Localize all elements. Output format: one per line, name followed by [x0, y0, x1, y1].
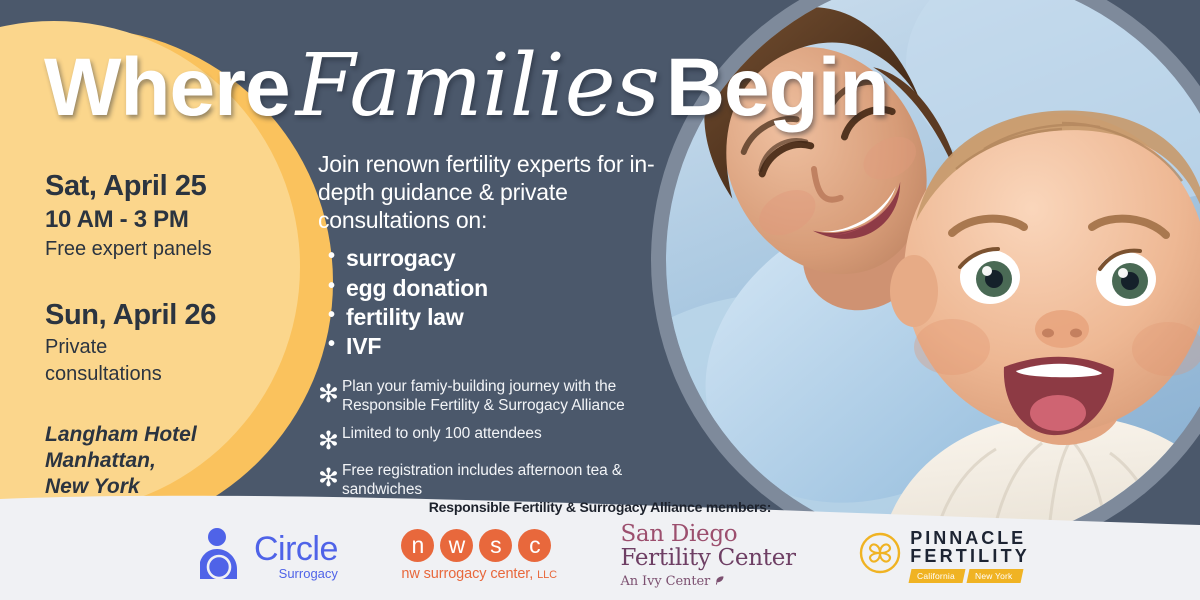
- sdfc-line-3: An Ivy Center: [620, 574, 725, 589]
- pinnacle-wordmark: PINNACLE FERTILITY California New York: [910, 529, 1030, 584]
- nwsc-tagline-suffix: LLC: [537, 569, 557, 581]
- pinnacle-line-2: FERTILITY: [910, 547, 1030, 566]
- highlight-item: ✻ Limited to only 100 attendees: [318, 425, 664, 453]
- nwsc-letter: c: [518, 529, 551, 562]
- event-banner: WhereFamiliesBegin Sat, April 25 10 AM -…: [0, 0, 1200, 600]
- nwsc-letter: w: [440, 529, 473, 562]
- day-2-date: Sun, April 26: [45, 299, 295, 331]
- logo-san-diego-fertility-center[interactable]: San Diego Fertility Center An Ivy Center: [620, 523, 795, 589]
- circle-surrogacy-icon: [200, 527, 246, 584]
- schedule-spacer: [45, 261, 295, 299]
- highlight-item: ✻ Plan your famiy-building journey with …: [318, 378, 664, 416]
- footer-band: Responsible Fertility & Surrogacy Allian…: [0, 485, 1200, 600]
- schedule-column: Sat, April 25 10 AM - 3 PM Free expert p…: [45, 170, 295, 500]
- circle-sub: Surrogacy: [254, 567, 338, 580]
- nwsc-letter: s: [479, 529, 512, 562]
- members-title: Responsible Fertility & Surrogacy Allian…: [0, 499, 1200, 515]
- asterisk-icon: ✻: [318, 381, 342, 406]
- topic-item: fertility law: [346, 303, 664, 332]
- highlight-text: Limited to only 100 attendees: [342, 425, 542, 444]
- pinnacle-clover-icon: [859, 532, 901, 579]
- topic-item: IVF: [346, 332, 664, 361]
- venue-line-2: Manhattan,: [45, 448, 295, 474]
- sdfc-line-1: San Diego: [620, 523, 737, 547]
- footer-content: Responsible Fertility & Surrogacy Allian…: [0, 485, 1200, 600]
- intro-text: Join renown fertility experts for in-dep…: [318, 150, 664, 234]
- member-logos: Circle Surrogacy n w s c nw surrogacy ce…: [200, 523, 1030, 589]
- day-1-note: Free expert panels: [45, 237, 295, 261]
- logo-nw-surrogacy-center[interactable]: n w s c nw surrogacy center, LLC: [401, 529, 557, 582]
- nwsc-tagline: nw surrogacy center, LLC: [401, 566, 557, 582]
- logo-circle-surrogacy[interactable]: Circle Surrogacy: [200, 527, 338, 584]
- highlight-text: Plan your famiy-building journey with th…: [342, 378, 664, 416]
- schedule-day-2: Sun, April 26 Private consultations: [45, 299, 295, 385]
- topics-list: surrogacy egg donation fertility law IVF: [318, 244, 664, 362]
- sdfc-line-2: Fertility Center: [620, 547, 795, 571]
- asterisk-icon: ✻: [318, 428, 342, 453]
- circle-surrogacy-wordmark: Circle Surrogacy: [254, 532, 338, 580]
- pinnacle-badge-label: California: [917, 571, 955, 581]
- headline-part-3: Begin: [666, 42, 889, 133]
- topic-item: surrogacy: [346, 244, 664, 273]
- nwsc-letter-circles: n w s c: [401, 529, 551, 562]
- nwsc-letter: n: [401, 529, 434, 562]
- page-title: WhereFamiliesBegin: [44, 36, 889, 136]
- day-1-date: Sat, April 25: [45, 170, 295, 202]
- topic-item: egg donation: [346, 274, 664, 303]
- schedule-day-1: Sat, April 25 10 AM - 3 PM Free expert p…: [45, 170, 295, 261]
- nwsc-tagline-main: nw surrogacy center,: [401, 566, 533, 582]
- pinnacle-badge: New York: [967, 569, 1023, 583]
- sdfc-ivy-text: An Ivy Center: [620, 574, 710, 589]
- logo-pinnacle-fertility[interactable]: PINNACLE FERTILITY California New York: [859, 529, 1030, 584]
- day-1-time: 10 AM - 3 PM: [45, 206, 295, 234]
- headline-part-2: Families: [290, 36, 666, 136]
- day-2-note: consultations: [45, 362, 295, 386]
- ivy-leaf-icon: [714, 574, 725, 589]
- pinnacle-badge: California: [909, 569, 966, 583]
- circle-name: Circle: [254, 532, 338, 566]
- pinnacle-location-badges: California New York: [910, 569, 1030, 583]
- venue-line-1: Langham Hotel: [45, 422, 295, 448]
- pinnacle-badge-label: New York: [975, 571, 1013, 581]
- day-2-time: Private: [45, 335, 295, 359]
- pinnacle-line-1: PINNACLE: [910, 529, 1030, 548]
- headline-part-1: Where: [44, 42, 290, 133]
